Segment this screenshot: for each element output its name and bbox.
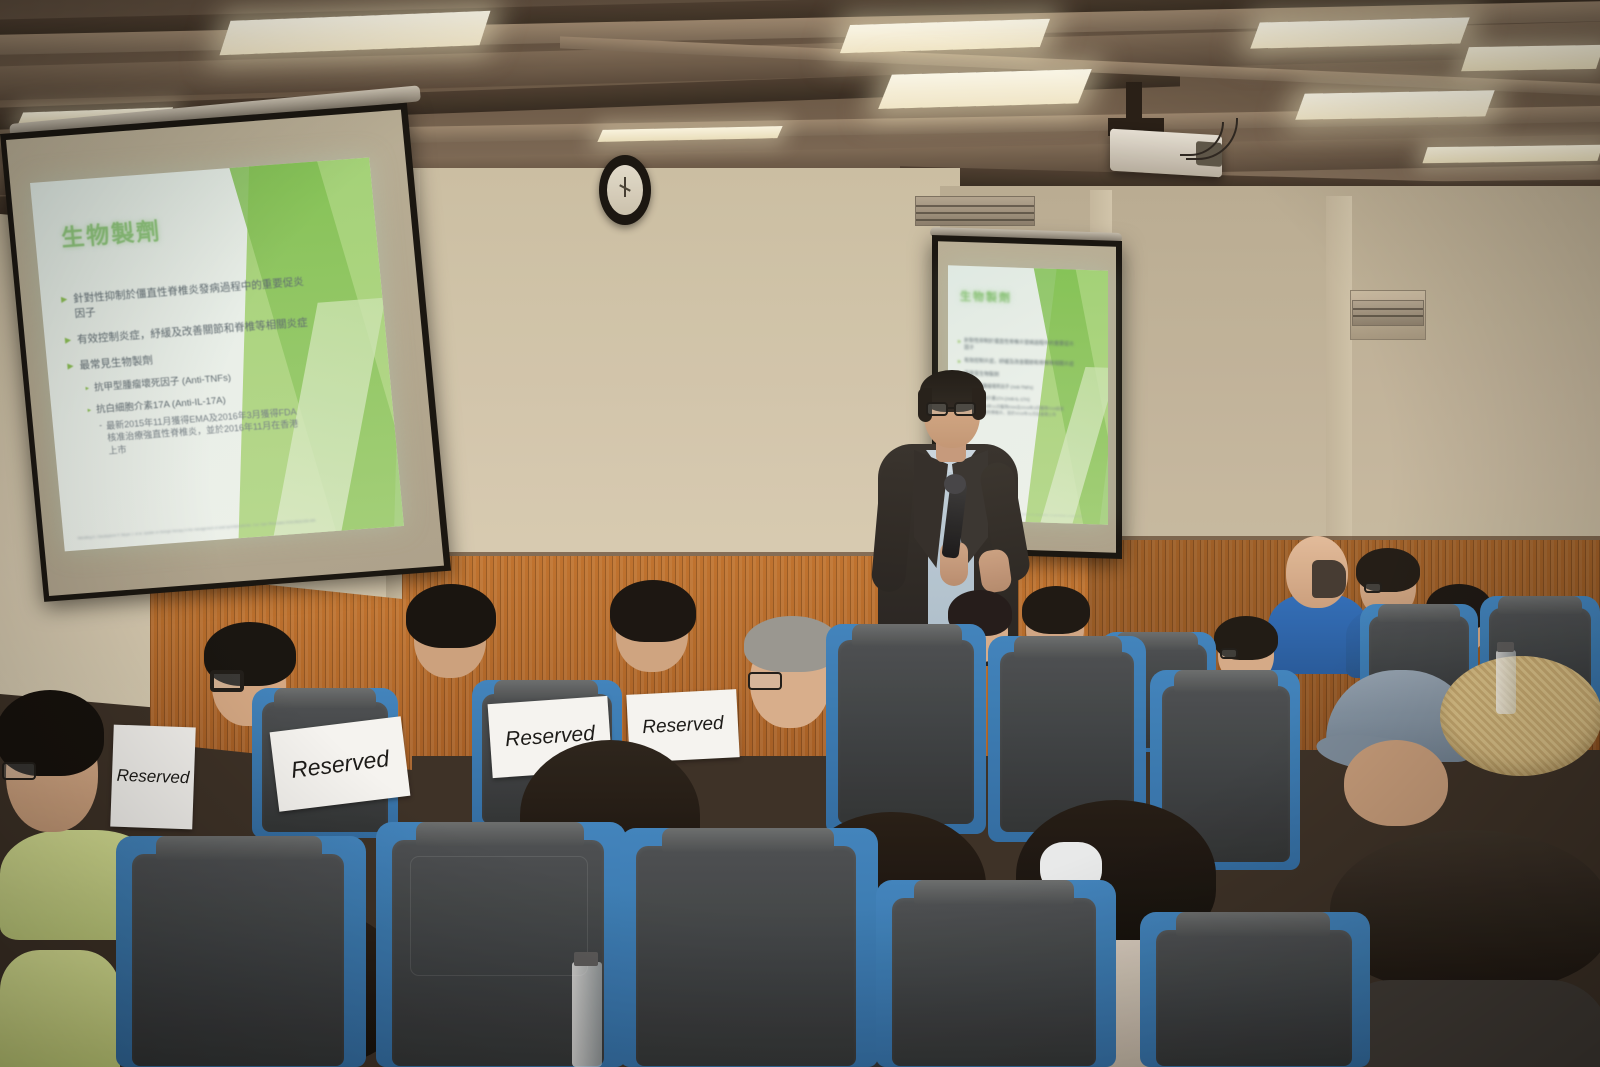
- bullet-marker-icon: ▸: [85, 384, 89, 392]
- ceiling-light: [878, 69, 1092, 109]
- audience-head: [1344, 740, 1448, 826]
- seat-headrest: [914, 880, 1074, 904]
- reserved-sign-label: Reserved: [290, 745, 391, 784]
- slide-main: 生物製劑 ▶ 針對性抑制於僵直性脊椎炎發病過程中的重要促炎因子 ▶ 有效控制炎症…: [30, 158, 404, 552]
- seat-cushion: [132, 854, 344, 1066]
- water-bottle[interactable]: [1496, 650, 1516, 714]
- reserved-sign-label: Reserved: [116, 766, 189, 789]
- straw-hat: [1440, 656, 1600, 776]
- seat-headrest: [662, 828, 834, 852]
- wall-clock: [599, 155, 651, 225]
- seat-cushion: [892, 898, 1096, 1066]
- audience-hair: [406, 584, 496, 648]
- bullet-marker-icon: ▶: [958, 359, 961, 364]
- seat-headrest: [416, 822, 584, 846]
- audience-member-yellow-front: [0, 930, 120, 1067]
- presenter-glasses: [954, 402, 976, 416]
- slide-bullet-text: 最常見生物製劑: [79, 353, 154, 373]
- bullet-marker-icon: ▸: [87, 406, 91, 414]
- audience-hair: [1330, 830, 1600, 990]
- seat[interactable]: [116, 836, 366, 1067]
- slide-bullet: ▶ 針對性抑制於僵直性脊椎炎發病過程中的重要促炎因子: [60, 274, 310, 322]
- slide-bullet-text: 針對性抑制於僵直性脊椎炎發病過程中的重要促炎因子: [73, 274, 311, 321]
- audience-hair: [1312, 560, 1346, 598]
- seat-headrest: [1174, 670, 1278, 692]
- audience-glasses: [2, 762, 36, 780]
- bullet-marker-icon: ▶: [67, 361, 74, 370]
- audience-member-front-right: [1330, 830, 1600, 1067]
- seat-headrest: [852, 624, 962, 646]
- microphone-head-icon: [944, 474, 966, 494]
- reserved-sign: Reserved: [270, 716, 411, 811]
- seat-headrest: [274, 688, 376, 708]
- ceiling-light: [1250, 17, 1469, 48]
- seat[interactable]: [876, 880, 1116, 1067]
- audience-glasses: [748, 672, 782, 690]
- audience-hair: [610, 580, 696, 642]
- slide-bullet: ▶ 針對性抑制於僵直性脊椎炎發病過程中的重要促炎因子: [958, 338, 1076, 356]
- slide-title: 生物製劑: [60, 211, 163, 252]
- audience-glasses: [210, 670, 244, 692]
- seat-cushion: [636, 846, 856, 1066]
- bullet-marker-icon: ▶: [958, 339, 961, 344]
- seat-headrest: [1378, 604, 1460, 622]
- lecture-hall-photo: 生物製劑 ▶ 針對性抑制於僵直性脊椎炎發病過程中的重要促炎因子 ▶ 有效控制炎症…: [0, 0, 1600, 1067]
- audience-shoulder: [0, 950, 120, 1067]
- ceiling-light: [1422, 145, 1600, 164]
- audience-glasses: [1220, 648, 1238, 659]
- seat-headrest: [156, 836, 322, 860]
- bottle-cap: [574, 952, 598, 966]
- seat-stitch: [410, 856, 588, 976]
- seat[interactable]: [1140, 912, 1370, 1067]
- ceiling-light: [1295, 90, 1494, 119]
- seat-cushion: [1156, 930, 1352, 1066]
- ceiling-light: [1461, 45, 1600, 71]
- audience-member-strawhat: [1440, 650, 1600, 800]
- slide-bullet-text: 抗甲型腫瘤壞死因子 (Anti-TNFs): [93, 371, 231, 395]
- audience-glasses: [1364, 582, 1382, 593]
- bullet-marker-icon: -: [99, 420, 103, 430]
- presenter-glasses: [926, 402, 948, 416]
- seat-headrest: [1176, 912, 1330, 936]
- seat-cushion: [838, 640, 974, 824]
- slide-title-secondary: 生物製劑: [960, 288, 1012, 306]
- seat-headrest: [1014, 636, 1122, 658]
- seat-headrest: [1498, 596, 1582, 614]
- reserved-sign-label: Reserved: [642, 713, 724, 739]
- wall-vent: [1352, 300, 1424, 326]
- bullet-marker-icon: ▶: [61, 295, 68, 304]
- slide-bullet-text: 有效控制炎症，紓緩及改善關節和脊椎等相關炎症: [76, 315, 308, 347]
- audience-hair: [1022, 586, 1090, 634]
- slide-body: ▶ 針對性抑制於僵直性脊椎炎發病過程中的重要促炎因子 ▶ 有效控制炎症，紓緩及改…: [60, 274, 323, 460]
- slide-bullet-text: 針對性抑制於僵直性脊椎炎發病過程中的重要促炎因子: [964, 338, 1076, 356]
- seat[interactable]: [620, 828, 878, 1067]
- wall-vent: [915, 196, 1035, 226]
- bullet-marker-icon: ▶: [65, 335, 72, 344]
- reserved-sign: Reserved: [110, 725, 196, 830]
- seat[interactable]: [826, 624, 986, 834]
- water-bottle[interactable]: [572, 962, 602, 1067]
- bottle-cap: [1497, 642, 1514, 652]
- audience-shoulder: [1330, 980, 1600, 1067]
- glasses-bridge: [948, 407, 954, 409]
